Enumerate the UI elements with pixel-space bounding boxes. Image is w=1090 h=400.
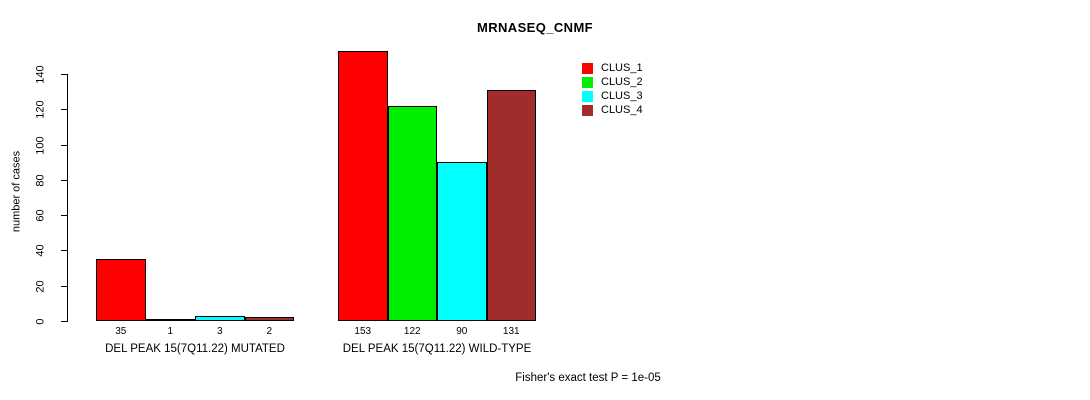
y-tick-label: 140 [36, 60, 47, 90]
legend-item[interactable]: CLUS_3 [582, 89, 692, 103]
y-tick-label: 60 [36, 201, 47, 231]
y-tick-label: 40 [36, 236, 47, 266]
y-tick-label: 120 [36, 95, 47, 125]
legend-color-swatch [582, 77, 593, 88]
legend-color-swatch [582, 105, 593, 116]
y-tick-mark [61, 321, 67, 322]
y-tick-label: 0 [36, 307, 47, 337]
bar[interactable] [96, 259, 146, 321]
y-tick-mark [61, 250, 67, 251]
bar-value-label: 131 [487, 327, 537, 337]
legend-item-label: CLUS_3 [601, 90, 643, 102]
y-tick-mark [61, 145, 67, 146]
y-tick-mark [61, 109, 67, 110]
legend-item-label: CLUS_4 [601, 104, 643, 116]
bar-value-label: 1 [146, 327, 196, 337]
y-tick-mark [61, 286, 67, 287]
legend-item[interactable]: CLUS_1 [582, 61, 692, 75]
bar[interactable] [388, 106, 438, 321]
bar-chart-plot: MRNASEQ_CNMF number of cases 02040608010… [0, 0, 1090, 400]
bar-value-label: 90 [437, 327, 487, 337]
bar-value-label: 3 [195, 327, 245, 337]
y-tick-mark [61, 180, 67, 181]
y-tick-label: 20 [36, 271, 47, 301]
bar[interactable] [487, 90, 537, 321]
y-tick-mark [61, 74, 67, 75]
legend-item-label: CLUS_2 [601, 76, 643, 88]
legend-item[interactable]: CLUS_2 [582, 75, 692, 89]
bar[interactable] [146, 319, 196, 321]
legend-color-swatch [582, 91, 593, 102]
y-axis-title: number of cases [12, 147, 23, 237]
bar[interactable] [195, 316, 245, 321]
bar[interactable] [245, 317, 295, 321]
statistical-test-annotation: Fisher's exact test P = 1e-05 [408, 372, 768, 385]
y-tick-label: 80 [36, 165, 47, 195]
bar-value-label: 122 [388, 327, 438, 337]
y-axis-line [67, 74, 68, 322]
y-tick-label: 100 [36, 130, 47, 160]
legend-item[interactable]: CLUS_4 [582, 103, 692, 117]
bar[interactable] [338, 51, 388, 321]
bar-value-label: 2 [245, 327, 295, 337]
legend-color-swatch [582, 63, 593, 74]
x-axis-group-label: DEL PEAK 15(7Q11.22) WILD-TYPE [258, 343, 616, 355]
bar-value-label: 35 [96, 327, 146, 337]
legend-item-label: CLUS_1 [601, 62, 643, 74]
y-tick-mark [61, 215, 67, 216]
page-title: MRNASEQ_CNMF [0, 20, 1080, 35]
bar-value-label: 153 [338, 327, 388, 337]
legend: CLUS_1CLUS_2CLUS_3CLUS_4 [582, 61, 692, 117]
bar[interactable] [437, 162, 487, 321]
